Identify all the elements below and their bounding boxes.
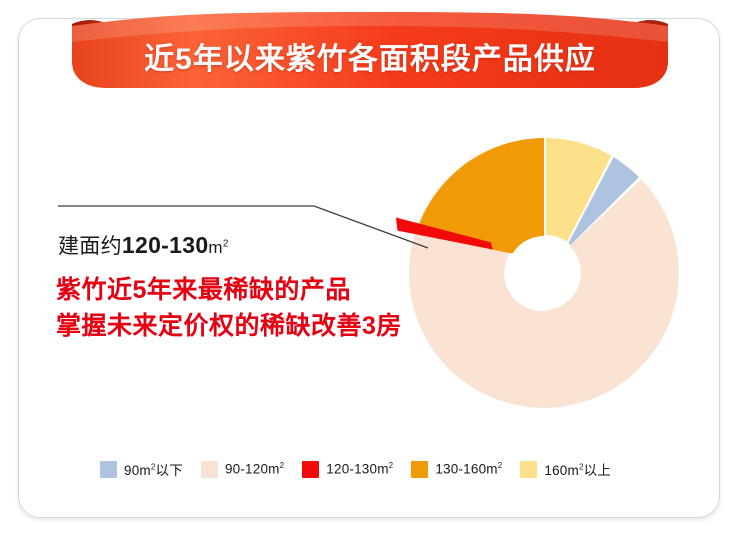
callout-value: 120-130 bbox=[122, 232, 209, 258]
callout-area-label: 建面约120-130m2 bbox=[58, 230, 229, 260]
page-title: 近5年以来紫竹各面积段产品供应 bbox=[42, 12, 698, 92]
legend-label-120-130: 120-130m2 bbox=[326, 461, 393, 477]
legend-item-0[interactable]: 90m2以下 bbox=[100, 459, 183, 479]
legend-item-1[interactable]: 90-120m2 bbox=[201, 461, 284, 478]
legend-label-90-120: 90-120m2 bbox=[225, 461, 284, 477]
legend-swatch-130-160 bbox=[411, 461, 428, 478]
callout-highlight: 紫竹近5年来最稀缺的产品 掌握未来定价权的稀缺改善3房 bbox=[56, 272, 402, 344]
donut-chart bbox=[370, 120, 710, 430]
legend-item-3[interactable]: 130-160m2 bbox=[411, 461, 502, 478]
callout-highlight-line1: 紫竹近5年来最稀缺的产品 bbox=[56, 272, 402, 308]
legend-label-130-160: 130-160m2 bbox=[435, 461, 502, 477]
legend-swatch-90-below bbox=[100, 461, 117, 478]
legend-item-2[interactable]: 120-130m2 bbox=[302, 461, 393, 478]
donut-hole bbox=[507, 236, 581, 310]
legend-swatch-90-120 bbox=[201, 461, 218, 478]
callout-highlight-line2: 掌握未来定价权的稀缺改善3房 bbox=[56, 308, 402, 344]
chart-legend: 90m2以下 90-120m2 120-130m2 130-160m2 160m… bbox=[100, 456, 660, 482]
callout-unit: m2 bbox=[208, 238, 228, 257]
legend-swatch-120-130 bbox=[302, 461, 319, 478]
legend-item-4[interactable]: 160m2以上 bbox=[520, 459, 611, 479]
legend-label-160-above: 160m2以上 bbox=[544, 459, 611, 479]
slide-root: 近5年以来紫竹各面积段产品供应 bbox=[0, 0, 740, 537]
legend-label-90-below: 90m2以下 bbox=[124, 459, 183, 479]
legend-swatch-160-above bbox=[520, 461, 537, 478]
callout-prefix: 建面约 bbox=[58, 235, 122, 258]
title-ribbon: 近5年以来紫竹各面积段产品供应 bbox=[42, 12, 698, 96]
donut-chart-svg bbox=[370, 120, 710, 430]
